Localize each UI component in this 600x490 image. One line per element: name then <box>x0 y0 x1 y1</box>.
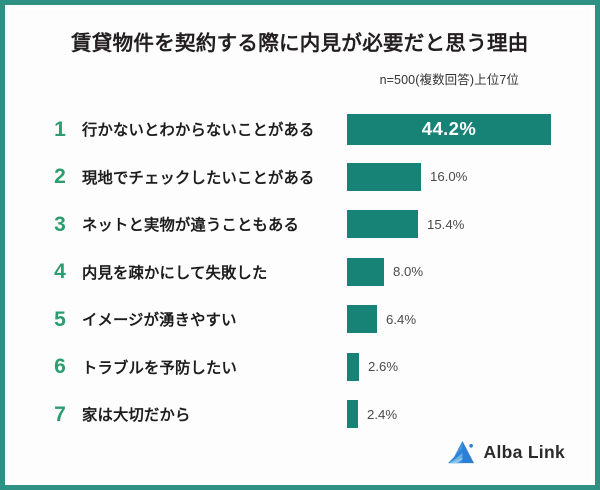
bar <box>347 258 384 286</box>
chart-row: 4 内見を疎かにして失敗した 8.0% <box>45 248 591 296</box>
bar-value-label: 2.4% <box>367 407 397 422</box>
rank-number: 7 <box>45 404 75 425</box>
chart-row: 1 行かないとわからないことがある 44.2% <box>45 106 591 154</box>
rank-number: 4 <box>45 261 75 282</box>
bar-zone: 16.0% <box>347 163 591 191</box>
category-label: トラブルを予防したい <box>75 356 347 378</box>
bar-zone: 2.6% <box>347 353 591 381</box>
chart-row: 6 トラブルを予防したい 2.6% <box>45 343 591 391</box>
chart-subtitle: n=500(複数回答)上位7位 <box>71 69 551 88</box>
bar-chart-rows: 1 行かないとわからないことがある 44.2% 2 現地でチェックしたいことがあ… <box>9 106 591 439</box>
category-label: 家は大切だから <box>75 403 347 425</box>
bar-zone: 8.0% <box>347 258 591 286</box>
rank-number: 1 <box>45 119 75 140</box>
category-label: 行かないとわからないことがある <box>75 118 347 140</box>
alba-link-sail-icon <box>448 440 475 465</box>
bar <box>347 163 421 191</box>
bar-zone: 2.4% <box>347 400 591 428</box>
bar-value-label: 44.2% <box>422 118 476 140</box>
bar <box>347 353 359 381</box>
rank-number: 6 <box>45 356 75 377</box>
brand-name: Alba Link <box>484 442 565 463</box>
bar-value-label: 15.4% <box>427 217 464 232</box>
bar <box>347 210 418 238</box>
brand-logo: Alba Link <box>448 440 565 465</box>
chart-row: 5 イメージが湧きやすい 6.4% <box>45 296 591 344</box>
chart-header: 賃貸物件を契約する際に内見が必要だと思う理由 n=500(複数回答)上位7位 <box>9 9 591 88</box>
bar-value-label: 2.6% <box>368 359 398 374</box>
chart-row: 3 ネットと実物が違うこともある 15.4% <box>45 201 591 249</box>
bar <box>347 305 377 333</box>
category-label: 内見を疎かにして失敗した <box>75 261 347 283</box>
bar: 44.2% <box>347 114 551 145</box>
bar-value-label: 6.4% <box>386 312 416 327</box>
chart-row: 7 家は大切だから 2.4% <box>45 391 591 439</box>
infographic-frame: 賃貸物件を契約する際に内見が必要だと思う理由 n=500(複数回答)上位7位 1… <box>0 0 600 490</box>
bar-value-label: 16.0% <box>430 169 467 184</box>
infographic-canvas: 賃貸物件を契約する際に内見が必要だと思う理由 n=500(複数回答)上位7位 1… <box>8 8 592 482</box>
rank-number: 3 <box>45 214 75 235</box>
chart-row: 2 現地でチェックしたいことがある 16.0% <box>45 153 591 201</box>
rank-number: 2 <box>45 166 75 187</box>
bar <box>347 400 358 428</box>
bar-zone: 44.2% <box>347 114 591 145</box>
page-title: 賃貸物件を契約する際に内見が必要だと思う理由 <box>71 31 551 57</box>
category-label: 現地でチェックしたいことがある <box>75 166 347 188</box>
bar-zone: 15.4% <box>347 210 591 238</box>
category-label: ネットと実物が違うこともある <box>75 213 347 235</box>
rank-number: 5 <box>45 309 75 330</box>
bar-value-label: 8.0% <box>393 264 423 279</box>
bar-zone: 6.4% <box>347 305 591 333</box>
category-label: イメージが湧きやすい <box>75 308 347 330</box>
